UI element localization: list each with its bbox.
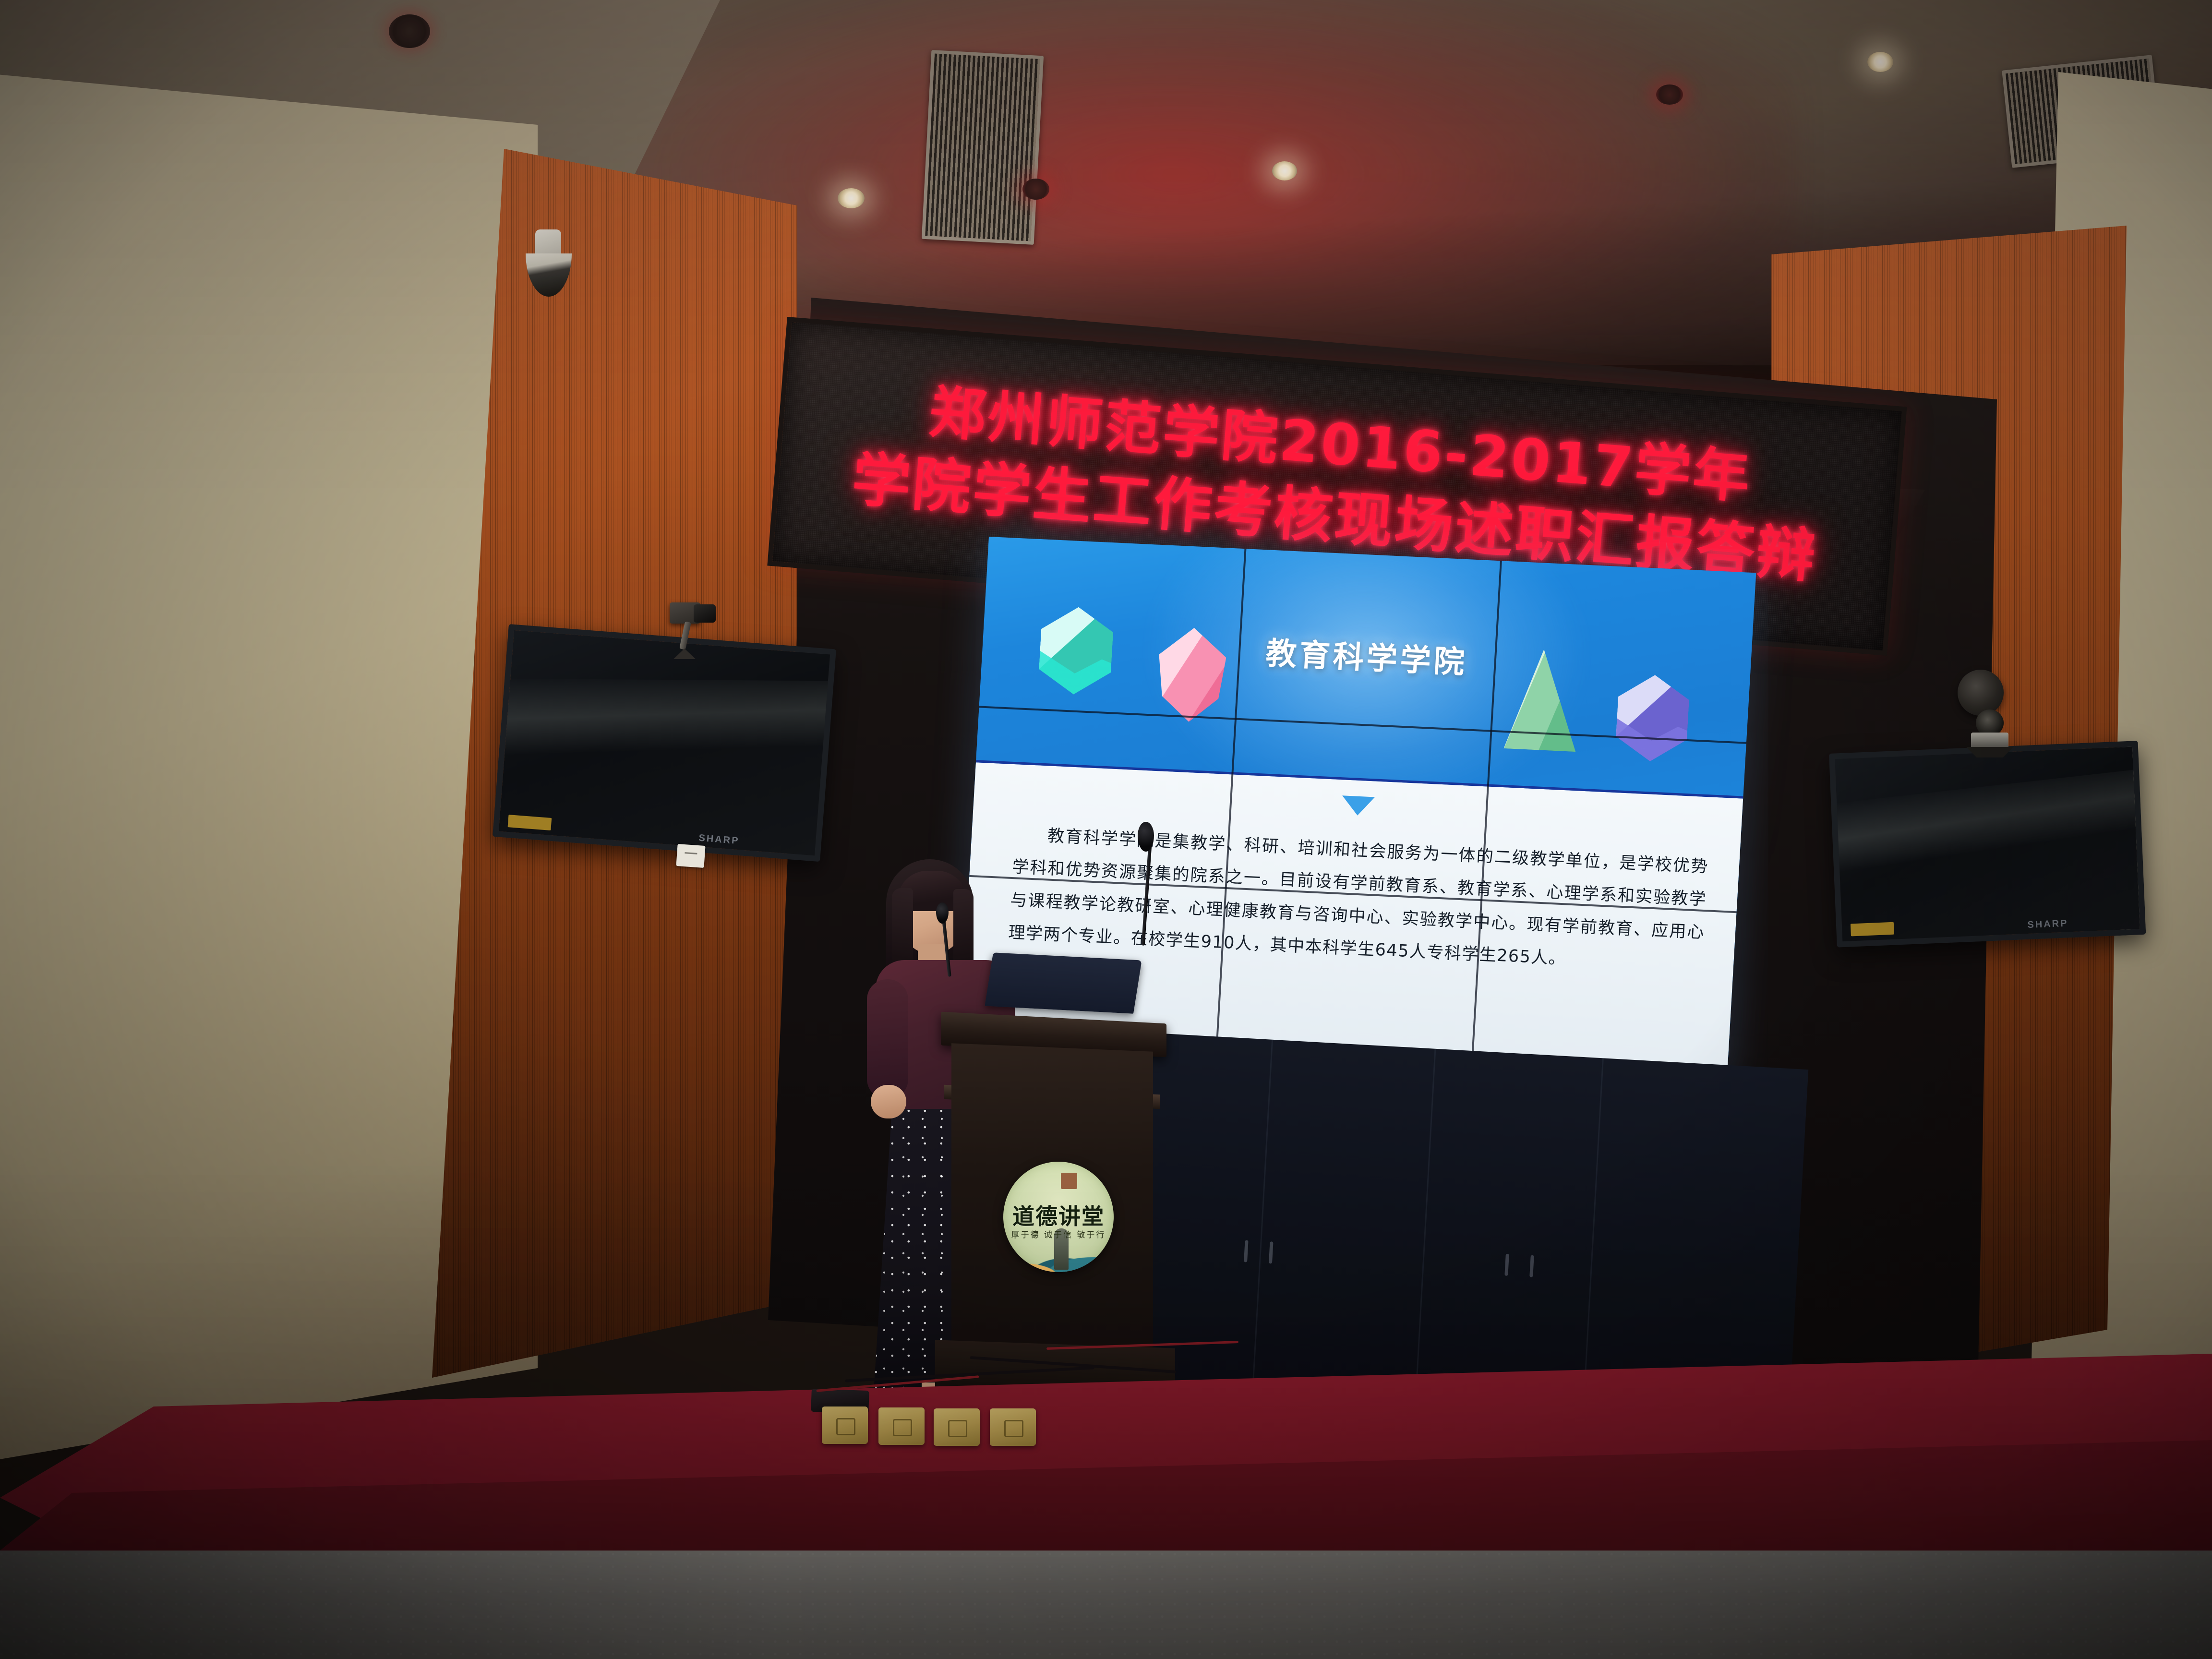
ptz-camera-mount-plate	[1966, 747, 2013, 757]
cabinet-handle-1[interactable]	[1244, 1240, 1249, 1262]
right-tv-screen-reflection	[1829, 764, 2146, 887]
ceiling-downlight-1	[838, 188, 865, 208]
presenter-hair-right	[953, 889, 974, 971]
hvac-vent-right	[922, 50, 1044, 245]
dome-security-camera-icon	[521, 229, 577, 298]
cabinet-handle-3[interactable]	[1504, 1254, 1509, 1276]
left-camera-lens	[694, 604, 716, 623]
floor-socket-3[interactable]	[934, 1408, 980, 1446]
emblem-subtitle: 厚于德 诚于信 敏于行	[1003, 1228, 1114, 1240]
left-wall-tv[interactable]: SHARP	[493, 624, 836, 862]
cabinet-handle-4[interactable]	[1529, 1255, 1534, 1277]
auditorium-scene: 郑州师范学院2016-2017学年 学院学生工作考核现场述职汇报答辩 教育科学学…	[0, 0, 2212, 1659]
ceiling-downlight-2	[1022, 179, 1049, 200]
floor-socket-1[interactable]	[822, 1407, 868, 1444]
dome-camera-dome	[526, 253, 572, 297]
left-tv-brand-label: SHARP	[698, 833, 740, 847]
right-wall-tv[interactable]: SHARP	[1829, 741, 2146, 948]
presenter-laptop[interactable]	[985, 952, 1142, 1013]
ptz-camera-icon	[1967, 706, 2010, 758]
ceiling-downlight-4	[1656, 84, 1683, 105]
left-wall-power-outlet[interactable]	[676, 844, 705, 868]
floor-socket-2[interactable]	[878, 1407, 925, 1445]
left-tv-screen-reflection	[493, 678, 836, 770]
right-tv-energy-label	[1851, 922, 1894, 937]
floor-shading	[0, 1551, 2212, 1659]
ceiling-downlight-3	[1272, 161, 1297, 180]
emblem-red-seal-icon	[1061, 1173, 1077, 1189]
podium-emblem: 道德讲堂 厚于德 诚于信 敏于行	[1003, 1162, 1114, 1272]
panel-seam-2	[1250, 1040, 1273, 1419]
emblem-title: 道德讲堂	[1003, 1199, 1114, 1231]
cabinet-handle-2[interactable]	[1269, 1241, 1274, 1263]
hall-floor	[0, 1551, 2212, 1659]
floor-socket-4[interactable]	[990, 1408, 1036, 1446]
ceiling-downlight-5	[1867, 52, 1893, 72]
ceiling-speaker-grille	[389, 14, 430, 48]
left-tv-energy-label	[508, 815, 552, 830]
triangle-down-icon	[1341, 795, 1375, 816]
presenter-hand	[871, 1085, 906, 1118]
right-tv-brand-label: SHARP	[2027, 918, 2068, 931]
presenter-left-arm	[867, 979, 908, 1099]
panel-seam-3	[1413, 1049, 1436, 1428]
